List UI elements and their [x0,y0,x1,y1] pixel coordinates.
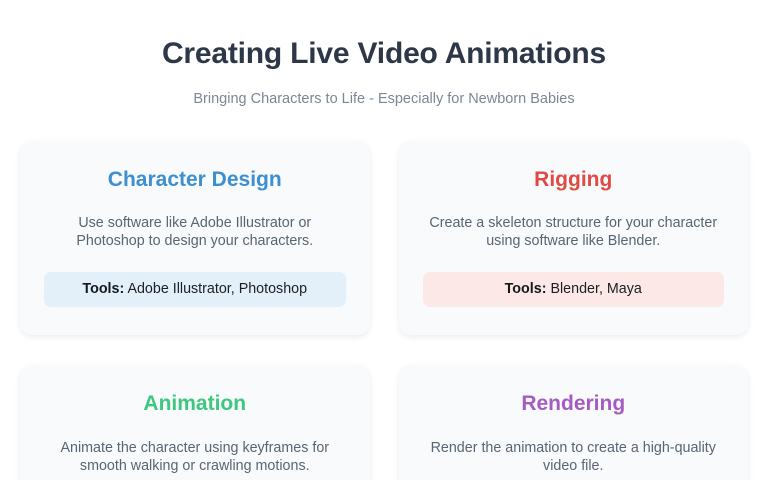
card-description: Animate the character using keyframes fo… [44,439,346,476]
card-title: Rendering [423,391,725,416]
page-container: Creating Live Video Animations Bringing … [0,0,768,480]
card-rendering[interactable]: Rendering Render the animation to create… [399,365,749,480]
page-subtitle: Bringing Characters to Life - Especially… [20,90,748,109]
card-description: Use software like Adobe Illustrator or P… [44,214,346,251]
card-title: Rigging [423,167,725,192]
tools-pill: Tools: Adobe Illustrator, Photoshop [44,272,346,308]
tools-label: Tools: [82,281,124,297]
tools-pill: Tools: Blender, Maya [423,272,725,308]
card-description: Create a skeleton structure for your cha… [423,214,725,251]
tools-value: Blender, Maya [550,281,641,297]
page-header: Creating Live Video Animations Bringing … [20,0,748,109]
card-title: Character Design [44,167,346,192]
tools-label: Tools: [505,281,547,297]
card-character-design[interactable]: Character Design Use software like Adobe… [20,141,370,336]
page-title: Creating Live Video Animations [20,36,748,72]
card-title: Animation [44,391,346,416]
card-description: Render the animation to create a high-qu… [423,439,725,476]
tools-value: Adobe Illustrator, Photoshop [127,281,307,297]
card-grid: Character Design Use software like Adobe… [20,141,748,480]
card-rigging[interactable]: Rigging Create a skeleton structure for … [399,141,749,336]
card-animation[interactable]: Animation Animate the character using ke… [20,365,370,480]
